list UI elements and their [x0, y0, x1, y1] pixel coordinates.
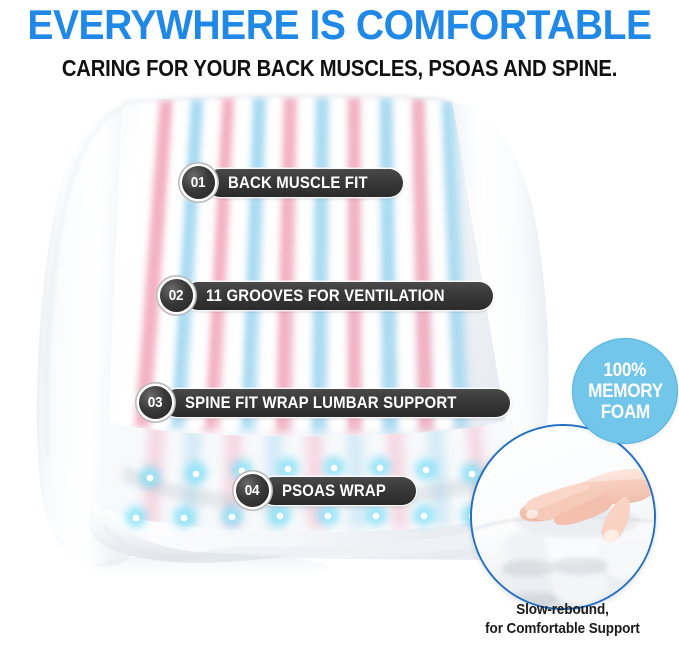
feature-bar-04: PSOAS WRAP	[260, 477, 416, 505]
feature-number-03: 03	[148, 395, 162, 410]
caption-line-2: for Comfortable Support	[466, 619, 660, 638]
feature-bar-02: 11 GROOVES FOR VENTILATION	[184, 282, 493, 310]
pillow-reflection	[92, 554, 328, 582]
feature-label-04[interactable]: 04 PSOAS WRAP	[236, 474, 416, 507]
feature-label-01[interactable]: 01 BACK MUSCLE FIT	[182, 166, 403, 199]
page-subtitle: CARING FOR YOUR BACK MUSCLES, PSOAS AND …	[41, 55, 639, 81]
foam-badge-line-1: 100%	[604, 360, 647, 381]
feature-text-04: PSOAS WRAP	[282, 482, 386, 499]
feature-bar-03: SPINE FIT WRAP LUMBAR SUPPORT	[163, 389, 510, 417]
foam-badge-line-2: MEMORY	[588, 381, 663, 402]
caption-line-1: Slow-rebound,	[466, 600, 660, 619]
feature-number-02: 02	[169, 288, 183, 303]
feature-label-02[interactable]: 02 11 GROOVES FOR VENTILATION	[160, 279, 493, 312]
feature-badge-03: 03	[139, 386, 172, 419]
feature-number-04: 04	[245, 483, 259, 498]
feature-label-03[interactable]: 03 SPINE FIT WRAP LUMBAR SUPPORT	[139, 386, 510, 419]
memory-foam-badge: 100% MEMORY FOAM	[572, 338, 678, 444]
infographic-page: EVERYWHERE IS COMFORTABLE CARING FOR YOU…	[0, 0, 679, 672]
feature-badge-02: 02	[160, 279, 193, 312]
feature-number-01: 01	[191, 175, 205, 190]
feature-text-02: 11 GROOVES FOR VENTILATION	[206, 287, 445, 304]
foam-badge-line-3: FOAM	[600, 402, 649, 423]
feature-badge-04: 04	[236, 474, 269, 507]
header: EVERYWHERE IS COMFORTABLE CARING FOR YOU…	[0, 0, 679, 81]
feature-badge-01: 01	[182, 166, 215, 199]
hand-pressing-foam-illustration	[472, 426, 654, 608]
feature-bar-01: BACK MUSCLE FIT	[206, 169, 403, 197]
memory-foam-photo-inset	[470, 424, 656, 610]
page-title: EVERYWHERE IS COMFORTABLE	[24, 3, 655, 47]
feature-text-03: SPINE FIT WRAP LUMBAR SUPPORT	[185, 394, 457, 411]
feature-text-01: BACK MUSCLE FIT	[228, 174, 368, 191]
inset-caption: Slow-rebound, for Comfortable Support	[455, 600, 670, 638]
